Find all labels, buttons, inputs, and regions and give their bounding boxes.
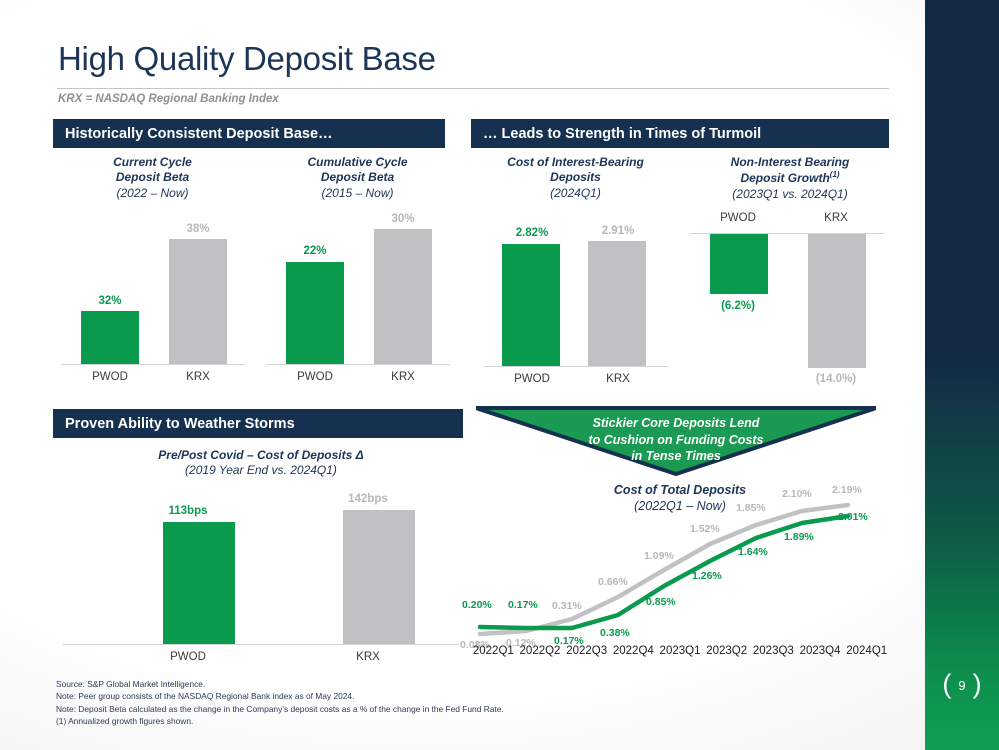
chart-current-cycle-beta: Current Cycle Deposit Beta (2022 – Now) …: [55, 155, 250, 370]
category-label-krx: KRX: [303, 651, 433, 663]
bar-krx: [343, 510, 415, 644]
point-label-pwod-2022Q2: 0.17%: [508, 599, 538, 611]
point-label-krx-2022Q3: 0.31%: [552, 600, 582, 612]
bar-krx: [808, 234, 866, 368]
chart-cumulative-cycle-beta: Cumulative Cycle Deposit Beta (2015 – No…: [260, 155, 455, 370]
footnotes: Source: S&P Global Market Intelligence. …: [56, 678, 504, 728]
point-label-krx-2023Q4: 2.10%: [782, 488, 812, 500]
x-tick-2024Q1: 2024Q1: [843, 645, 890, 657]
x-tick-2023Q3: 2023Q3: [750, 645, 797, 657]
bracket-left: (: [942, 674, 951, 696]
chart-title-line1: Pre/Post Covid – Cost of Deposits Δ: [55, 448, 467, 463]
point-label-pwod-2023Q2: 1.26%: [692, 570, 722, 582]
bar-pwod: [502, 244, 560, 366]
bar-value-label-krx: (14.0%): [794, 373, 878, 385]
point-label-pwod-2024Q1: 2.01%: [838, 511, 868, 523]
callout-line-3: in Tense Times: [476, 448, 876, 465]
bracket-right: ): [973, 674, 982, 696]
bar-krx: [169, 239, 227, 364]
chart-title-line1: Cumulative Cycle: [260, 155, 455, 170]
category-label-krx: KRX: [143, 371, 253, 383]
category-label-pwod: PWOD: [696, 212, 780, 224]
footnote-annualized: (1) Annualized growth figures shown.: [56, 715, 504, 727]
chart-subtitle: (2023Q1 vs. 2024Q1): [690, 187, 890, 202]
category-label-pwod: PWOD: [123, 651, 253, 663]
x-tick-2023Q1: 2023Q1: [657, 645, 704, 657]
point-label-pwod-2023Q4: 1.89%: [784, 531, 814, 543]
chart-title-line1: Non-Interest Bearing: [690, 155, 890, 170]
point-label-pwod-2022Q1: 0.20%: [462, 599, 492, 611]
side-rail: Penns Woods Bancorp, Inc. ( 9 ): [925, 0, 999, 750]
bar-pwod: [81, 311, 139, 364]
bar-pwod: [710, 234, 768, 294]
page-title: High Quality Deposit Base: [58, 40, 436, 78]
point-label-krx-2024Q1: 2.19%: [832, 484, 862, 496]
title-divider: [57, 88, 889, 89]
chart-axis-line: [61, 364, 245, 365]
chart-axis-line: [484, 366, 668, 367]
chart-subtitle: (2022 – Now): [55, 186, 250, 201]
x-axis-labels: 2022Q1 2022Q2 2022Q3 2022Q4 2023Q1 2023Q…: [470, 645, 890, 657]
chart-title-line1: Current Cycle: [55, 155, 250, 170]
chart-title-line2: Deposit Beta: [55, 170, 250, 185]
subtitle-note: KRX = NASDAQ Regional Banking Index: [58, 93, 279, 105]
bar-pwod: [163, 522, 235, 644]
bar-value-label-krx: 2.91%: [564, 225, 672, 237]
x-tick-2022Q4: 2022Q4: [610, 645, 657, 657]
callout-line-1: Stickier Core Deposits Lend: [476, 415, 876, 432]
chart-axis-line: [63, 644, 459, 645]
bar-krx: [374, 229, 432, 364]
chart-pre-post-covid: Pre/Post Covid – Cost of Deposits Δ (201…: [55, 448, 467, 663]
chart-subtitle: (2019 Year End vs. 2024Q1): [55, 463, 467, 478]
point-label-pwod-2023Q1: 0.85%: [646, 596, 676, 608]
chart-title-line2-text: Deposit Growth: [740, 171, 829, 185]
chart-subtitle: (2024Q1): [478, 186, 673, 201]
callout-line-2: to Cushion on Funding Costs: [476, 432, 876, 449]
chart-title-line2: Deposit Growth(1): [690, 170, 890, 186]
chart-subtitle: (2015 – Now): [260, 186, 455, 201]
chart-cost-of-total-deposits: Cost of Total Deposits (2022Q1 – Now) 0.…: [470, 482, 890, 667]
x-tick-2022Q2: 2022Q2: [517, 645, 564, 657]
x-tick-2023Q2: 2023Q2: [703, 645, 750, 657]
chart-title-line1: Cost of Interest-Bearing: [478, 155, 673, 170]
point-label-krx-2023Q3: 1.85%: [736, 502, 766, 514]
chart-title-line2: Deposits: [478, 170, 673, 185]
category-label-krx: KRX: [794, 212, 878, 224]
bar-value-label-pwod: (6.2%): [696, 300, 780, 312]
chart-axis-line: [266, 364, 450, 365]
page-number: ( 9 ): [925, 674, 999, 696]
footnote-peer-group: Note: Peer group consists of the NASDAQ …: [56, 690, 504, 702]
footnote-marker: (1): [830, 170, 840, 179]
footnote-deposit-beta: Note: Deposit Beta calculated as the cha…: [56, 703, 504, 715]
x-tick-2022Q1: 2022Q1: [470, 645, 517, 657]
bar-value-label-krx: 142bps: [303, 493, 433, 505]
x-tick-2022Q3: 2022Q3: [563, 645, 610, 657]
bar-pwod: [286, 262, 344, 364]
bar-value-label-pwod: 113bps: [123, 505, 253, 517]
section-header-storms: Proven Ability to Weather Storms: [53, 409, 463, 438]
page-number-value: 9: [958, 678, 965, 693]
point-label-pwod-2023Q3: 1.64%: [738, 546, 768, 558]
point-label-pwod-2022Q4: 0.38%: [600, 627, 630, 639]
bar-value-label-krx: 30%: [348, 213, 458, 225]
callout-banner: Stickier Core Deposits Lend to Cushion o…: [476, 406, 876, 476]
bar-value-label-pwod: 22%: [260, 245, 370, 257]
bar-value-label-krx: 38%: [143, 223, 253, 235]
category-label-krx: KRX: [348, 371, 458, 383]
bar-value-label-pwod: 32%: [55, 295, 165, 307]
point-label-krx-2022Q4: 0.66%: [598, 576, 628, 588]
section-header-right: … Leads to Strength in Times of Turmoil: [471, 119, 889, 148]
slide-canvas: High Quality Deposit Base KRX = NASDAQ R…: [0, 0, 999, 750]
x-tick-2023Q4: 2023Q4: [797, 645, 844, 657]
callout-text: Stickier Core Deposits Lend to Cushion o…: [476, 415, 876, 465]
section-header-left: Historically Consistent Deposit Base…: [53, 119, 445, 148]
chart-non-interest-bearing-growth: Non-Interest Bearing Deposit Growth(1) (…: [690, 155, 890, 385]
chart-title-line2: Deposit Beta: [260, 170, 455, 185]
point-label-krx-2023Q2: 1.52%: [690, 523, 720, 535]
point-label-krx-2023Q1: 1.09%: [644, 550, 674, 562]
footnote-source: Source: S&P Global Market Intelligence.: [56, 678, 504, 690]
chart-cost-interest-bearing: Cost of Interest-Bearing Deposits (2024Q…: [478, 155, 673, 370]
bar-krx: [588, 241, 646, 366]
category-label-krx: KRX: [564, 373, 672, 385]
